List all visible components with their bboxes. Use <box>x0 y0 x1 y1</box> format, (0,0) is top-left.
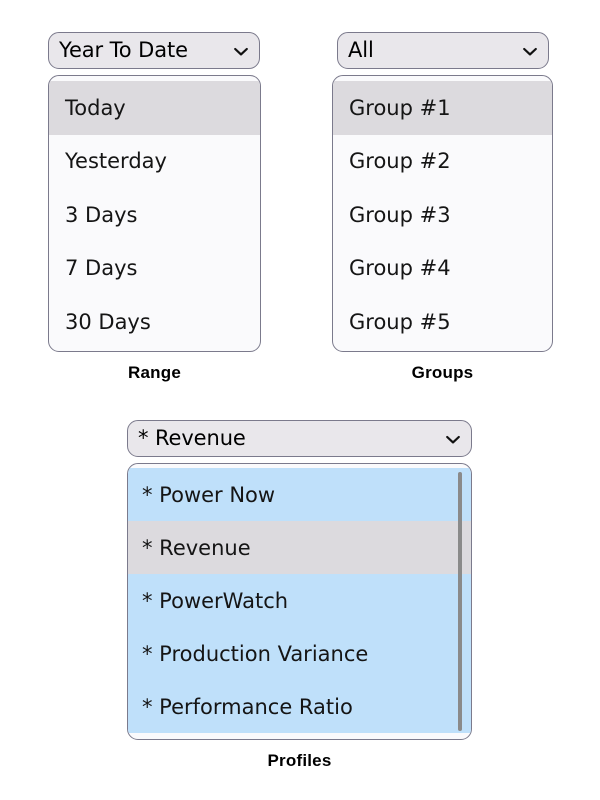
groups-options-list[interactable]: Group #1 Group #2 Group #3 Group #4 Grou… <box>332 75 553 352</box>
list-item[interactable]: * Power Now <box>128 468 471 521</box>
range-caption: Range <box>48 363 261 383</box>
profiles-selected-value: * Revenue <box>138 428 444 449</box>
list-item[interactable]: * Revenue <box>128 521 471 574</box>
profiles-caption: Profiles <box>127 751 472 771</box>
list-item[interactable]: Group #4 <box>333 242 552 296</box>
list-item[interactable]: * PowerWatch <box>128 574 471 627</box>
list-item[interactable]: Today <box>49 81 260 135</box>
chevron-down-icon <box>232 44 250 58</box>
list-item[interactable]: Group #3 <box>333 188 552 242</box>
list-item[interactable]: * Performance Ratio <box>128 680 471 733</box>
dropdown-demo-stage: Year To Date Today Yesterday 3 Days 7 Da… <box>0 0 600 800</box>
range-options-list[interactable]: Today Yesterday 3 Days 7 Days 30 Days <box>48 75 261 352</box>
list-item[interactable]: * Production Variance <box>128 627 471 680</box>
chevron-down-icon <box>521 44 539 58</box>
groups-select-button[interactable]: All <box>337 32 549 69</box>
groups-caption: Groups <box>332 363 553 383</box>
groups-selected-value: All <box>348 40 521 61</box>
list-item[interactable]: 7 Days <box>49 242 260 296</box>
chevron-down-icon <box>444 432 462 446</box>
list-item[interactable]: 30 Days <box>49 295 260 349</box>
range-selected-value: Year To Date <box>59 40 232 61</box>
list-item[interactable]: Group #1 <box>333 81 552 135</box>
profiles-list-scrollbar[interactable] <box>458 472 462 731</box>
list-item[interactable]: Group #5 <box>333 295 552 349</box>
list-item[interactable]: 3 Days <box>49 188 260 242</box>
profiles-options-list[interactable]: * Power Now * Revenue * PowerWatch * Pro… <box>127 463 472 740</box>
list-item[interactable]: Yesterday <box>49 135 260 189</box>
list-item[interactable]: Group #2 <box>333 135 552 189</box>
profiles-select-button[interactable]: * Revenue <box>127 420 472 457</box>
range-select-button[interactable]: Year To Date <box>48 32 260 69</box>
